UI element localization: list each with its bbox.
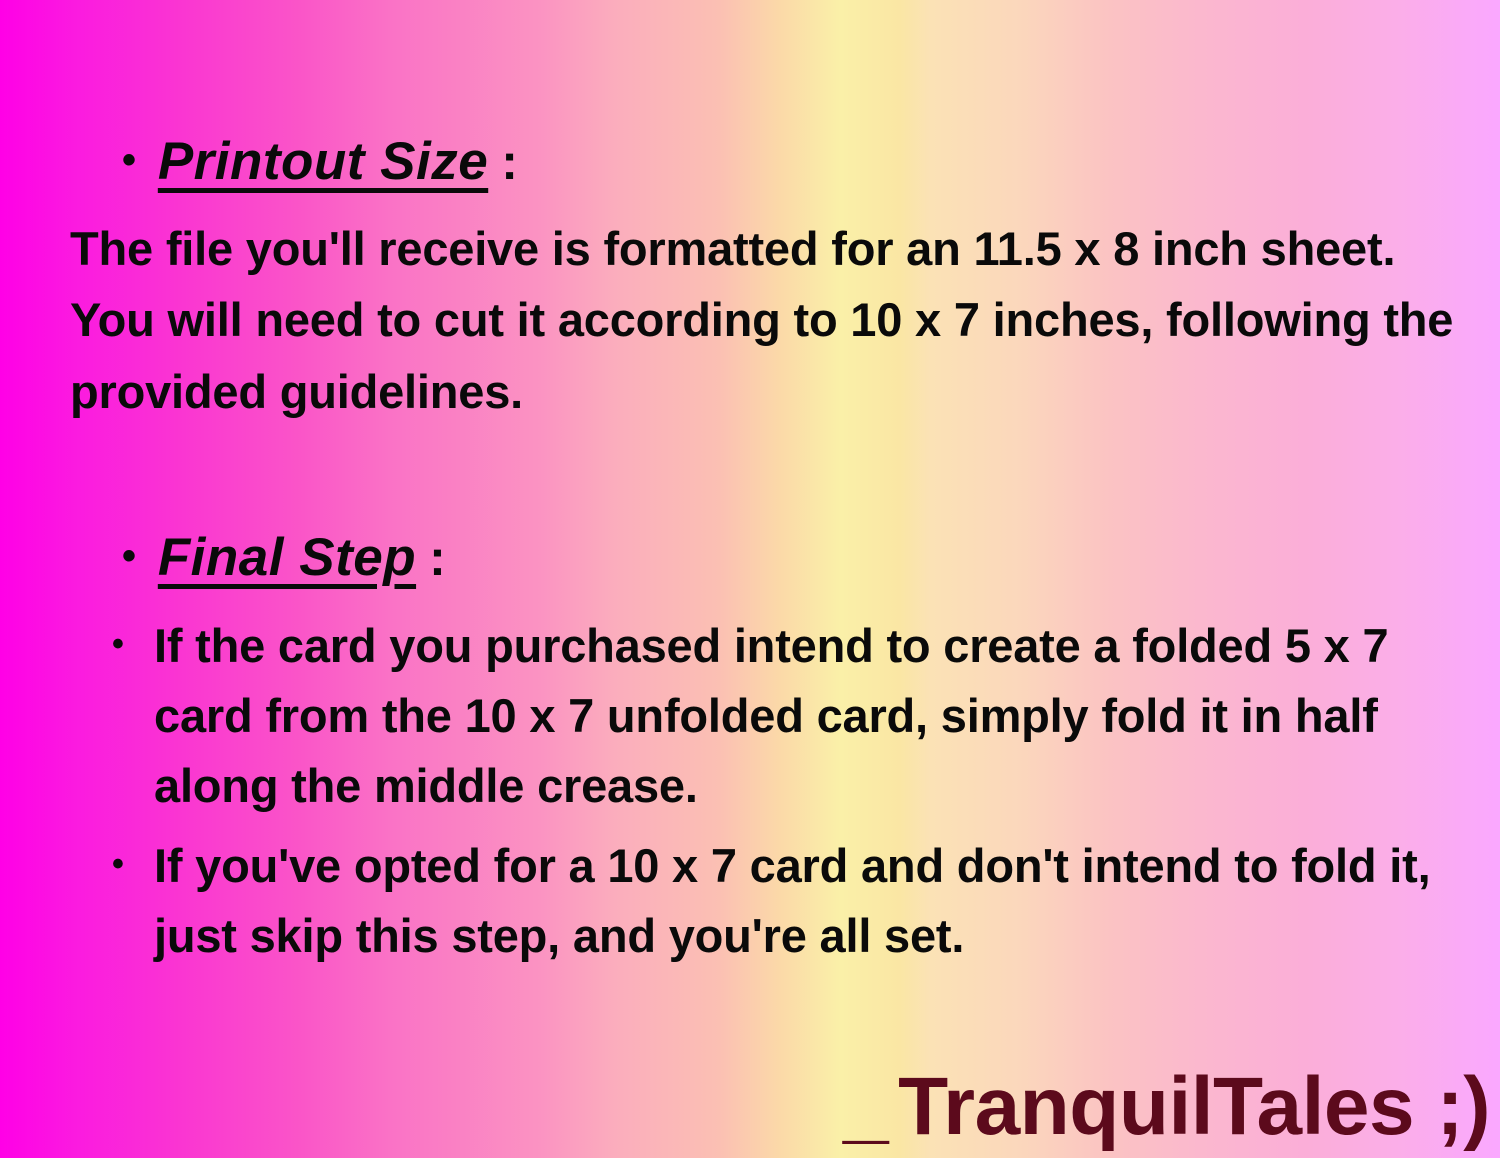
final-step-list: • If the card you purchased intend to cr… [112, 611, 1472, 981]
section-title-printout-size: Printout Size [158, 135, 488, 188]
poster-canvas: • Printout Size : The file you'll receiv… [0, 0, 1500, 1158]
bullet-icon: • [122, 140, 136, 180]
list-item-text: If you've opted for a 10 x 7 card and do… [154, 831, 1472, 971]
bullet-icon: • [112, 627, 154, 661]
section-heading-final-step: • Final Step : [122, 531, 446, 584]
list-item: • If you've opted for a 10 x 7 card and … [112, 831, 1472, 971]
signature-name: TranquilTales ;) [898, 1061, 1490, 1152]
section-title-final-step: Final Step [158, 531, 416, 584]
printout-size-paragraph: The file you'll receive is formatted for… [70, 213, 1460, 427]
section-title-colon: : [501, 137, 517, 187]
bullet-icon: • [112, 847, 154, 881]
section-heading-printout-size: • Printout Size : [122, 135, 518, 188]
signature-prefix: _ [843, 1060, 888, 1154]
list-item: • If the card you purchased intend to cr… [112, 611, 1472, 821]
bullet-icon: • [122, 536, 136, 576]
section-title-colon: : [429, 533, 445, 583]
list-item-text: If the card you purchased intend to crea… [154, 611, 1472, 821]
signature: _TranquilTales ;) [843, 1060, 1490, 1154]
